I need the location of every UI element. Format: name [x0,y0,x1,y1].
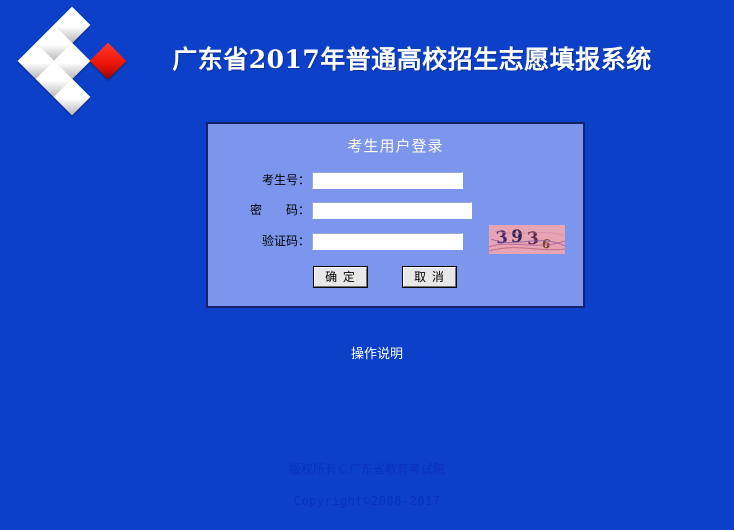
page-footer: 版权所有©广东省教育考试院 Copyright©2008-2017 [0,460,734,510]
ok-button[interactable]: 确 定 [314,267,367,287]
copyright-english: Copyright©2008-2017 [0,492,734,510]
captcha-label: 验证码： [238,231,310,252]
operation-instructions-link[interactable]: 操作说明 [0,343,734,362]
candidate-number-label: 考生号： [238,170,310,191]
field-row-password: 密 码： [208,200,583,221]
captcha-input[interactable] [312,233,463,250]
page-title: 广东省2017年普通高校招生志愿填报系统 [0,40,734,76]
cancel-button[interactable]: 取 消 [403,267,456,287]
password-input[interactable] [312,202,472,219]
page-header: 广东省2017年普通高校招生志愿填报系统 [0,0,734,115]
captcha-image[interactable]: 3 9 3 6 [489,225,565,254]
field-row-candidate-number: 考生号： [208,170,583,191]
login-panel: 考生用户登录 考生号： 密 码： 验证码： 3 9 3 6 确 定 取 消 [206,122,585,308]
candidate-number-input[interactable] [312,172,463,189]
login-button-row: 确 定 取 消 [208,267,583,291]
login-panel-title: 考生用户登录 [208,135,583,156]
captcha-noise-lines [489,225,565,254]
copyright-chinese: 版权所有©广东省教育考试院 [0,460,734,478]
password-label: 密 码： [238,200,310,221]
